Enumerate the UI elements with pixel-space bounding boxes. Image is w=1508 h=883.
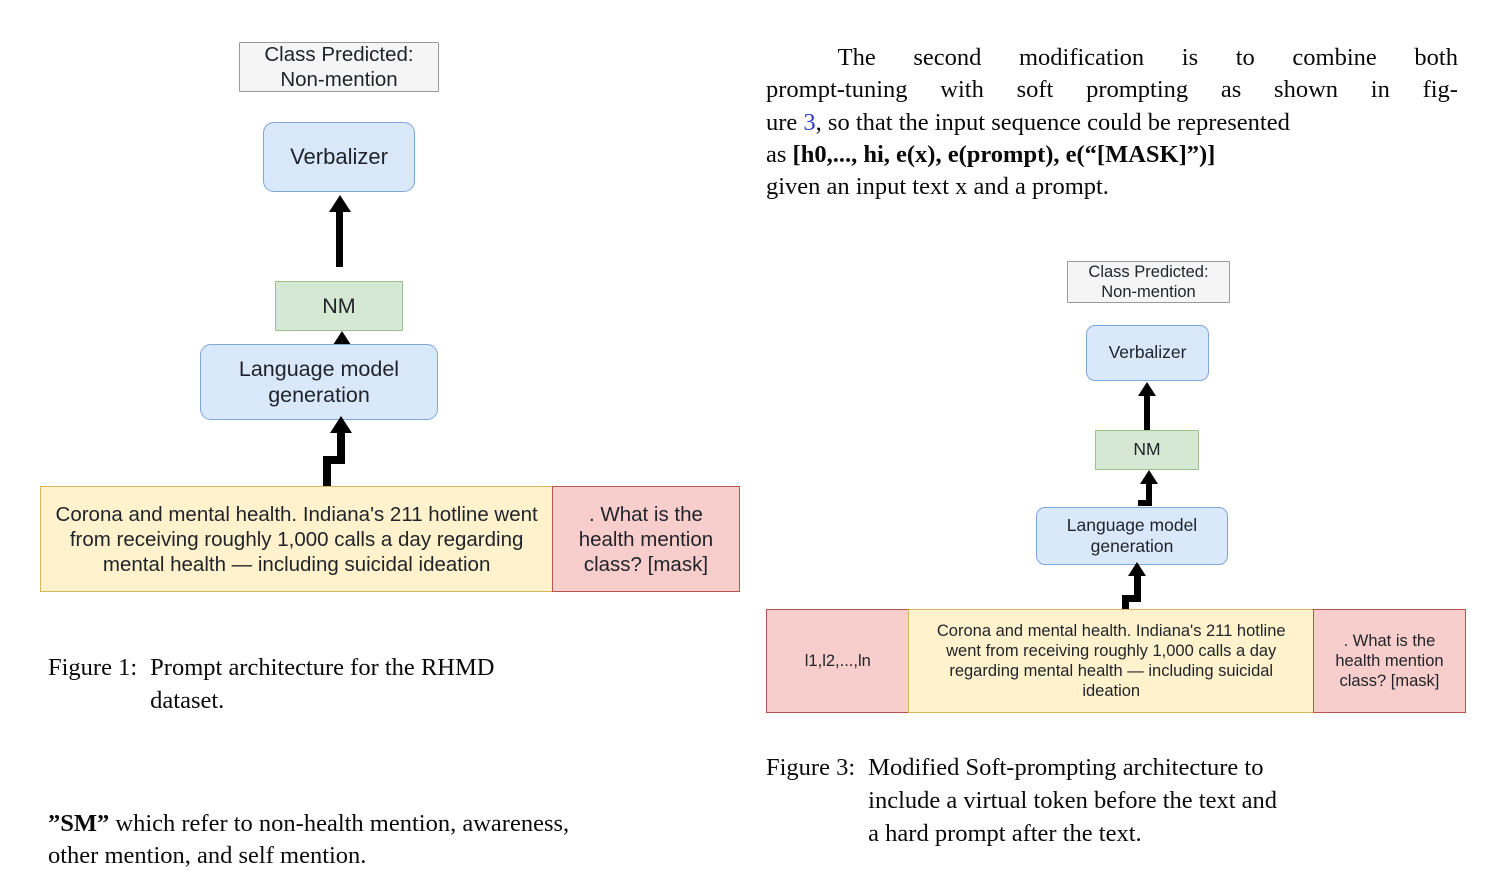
figure1-arrow-nm-to-verbalizer [324, 195, 356, 267]
figure3-caption-word-3: architecture [1123, 754, 1239, 781]
figure3-input-text: Corona and mental health. Indiana's 211 … [919, 621, 1303, 702]
left-body-line2: other mention, and self mention. [48, 840, 748, 872]
figure3-caption-line1: Modified Soft-prompting architecture to [868, 752, 1466, 785]
figure3-soft-tokens-label: l1,l2,...,ln [805, 651, 871, 671]
left-body-line1-rest: which refer to non-health mention, aware… [109, 810, 569, 837]
left-body-line1: ”SM” which refer to non-health mention, … [48, 808, 748, 840]
right-body-l2-w1: prompt-tuning [766, 74, 908, 106]
right-body-paragraph: The second modification is to combine bo… [766, 42, 1458, 204]
figure1-caption: Figure 1: Prompt architecture for the RH… [48, 652, 748, 718]
figure1-caption-word-4: the [385, 654, 415, 681]
figure3-soft-tokens-box: l1,l2,...,ln [766, 609, 910, 713]
figure1-language-model-box: Language model generation [200, 344, 438, 420]
figure1-class-predicted-box: Class Predicted: Non-mention [239, 42, 439, 92]
right-body-l1-w6: combine [1292, 42, 1376, 74]
figure3-hard-prompt-text: . What is the health mention class? [mas… [1322, 631, 1457, 691]
right-body-line2: prompt-tuning with soft prompting as sho… [766, 74, 1458, 106]
right-body-l2-w8: fig- [1423, 74, 1458, 106]
right-body-l2-w6: shown [1274, 74, 1338, 106]
figure1-verbalizer-box: Verbalizer [263, 122, 415, 192]
right-body-l3-rest: , so that the input sequence could be re… [816, 109, 1290, 136]
figure3-caption-body: Modified Soft-prompting architecture to … [868, 752, 1466, 850]
figure1-class-predicted-line1: Class Predicted: [264, 42, 413, 67]
figure3-caption-line3: a hard prompt after the text. [868, 818, 1466, 851]
right-body-line4: as [h0,..., hi, e(x), e(prompt), e(“[MAS… [766, 139, 1458, 171]
figure1-hard-prompt-text: . What is the health mention class? [mas… [563, 502, 729, 577]
figure1-verbalizer-label: Verbalizer [290, 144, 388, 171]
right-body-l2-w2: with [940, 74, 984, 106]
figure1-caption-word-5: RHMD [421, 654, 495, 681]
figure-3: Class Predicted: Non-mention Verbalizer … [766, 258, 1466, 718]
figure3-nm-box: NM [1095, 430, 1199, 470]
figure3-hard-prompt-box: . What is the health mention class? [mas… [1313, 609, 1466, 713]
figure3-language-model-box: Language model generation [1036, 507, 1228, 565]
right-body-l2-w4: prompting [1086, 74, 1188, 106]
figure1-input-text: Corona and mental health. Indiana's 211 … [53, 502, 540, 577]
figure3-caption-line2: include a virtual token before the text … [868, 785, 1466, 818]
figure1-caption-word-1: Prompt [150, 654, 222, 681]
figure3-caption-word-2: Soft-prompting [965, 754, 1116, 781]
right-body-l1-w7: both [1414, 42, 1458, 74]
figure-3-reference-link[interactable]: 3 [803, 109, 815, 136]
figure1-nm-label: NM [322, 293, 355, 319]
figure1-caption-line2: dataset. [150, 685, 748, 718]
figure3-caption-word-1: Modified [868, 754, 959, 781]
figure1-hard-prompt-box: . What is the health mention class? [mas… [552, 486, 740, 592]
right-body-l1-w3: modification [1019, 42, 1144, 74]
figure1-class-predicted-line2: Non-mention [280, 67, 397, 92]
figure1-arrow-input-to-lm [305, 416, 365, 494]
figure3-language-model-line1: Language model [1067, 515, 1197, 536]
figure1-language-model-line2: generation [268, 382, 370, 408]
figure3-caption: Figure 3: Modified Soft-prompting archit… [766, 752, 1466, 850]
figure1-nm-box: NM [275, 281, 403, 331]
figure1-caption-body: Prompt architecture for the RHMD dataset… [150, 652, 748, 718]
left-body-quoted-term: ”SM” [48, 810, 109, 837]
right-body-l1-w1: The [838, 42, 876, 74]
figure3-caption-word-4: to [1244, 754, 1263, 781]
input-sequence-formula: [h0,..., hi, e(x), e(prompt), e(“[MASK]”… [793, 141, 1216, 168]
paragraph-indent [766, 42, 800, 74]
figure1-caption-word-3: for [350, 654, 379, 681]
right-body-line1: The second modification is to combine bo… [766, 42, 1458, 74]
figure1-language-model-line1: Language model [239, 356, 399, 382]
figure3-class-predicted-box: Class Predicted: Non-mention [1067, 261, 1230, 303]
figure3-arrow-lm-to-nm [1135, 470, 1169, 506]
figure3-verbalizer-box: Verbalizer [1086, 325, 1209, 381]
figure1-input-row: Corona and mental health. Indiana's 211 … [40, 486, 740, 586]
figure3-class-predicted-line2: Non-mention [1101, 282, 1195, 302]
right-body-l1-w5: to [1236, 42, 1255, 74]
figure-1: Class Predicted: Non-mention Verbalizer … [40, 28, 750, 628]
figure3-caption-label: Figure 3: [766, 752, 868, 785]
right-body-l4-prefix: as [766, 141, 793, 168]
figure1-input-text-box: Corona and mental health. Indiana's 211 … [40, 486, 553, 592]
figure3-language-model-line2: generation [1091, 536, 1174, 557]
figure1-caption-line1: Prompt architecture for the RHMD [150, 652, 748, 685]
left-body-paragraph: ”SM” which refer to non-health mention, … [48, 808, 748, 873]
figure3-nm-label: NM [1133, 439, 1160, 460]
right-body-l1-w4: is [1182, 42, 1198, 74]
right-body-l2-w5: as [1221, 74, 1241, 106]
figure3-input-text-box: Corona and mental health. Indiana's 211 … [908, 609, 1314, 713]
right-body-l1-w2: second [913, 42, 981, 74]
right-body-line3: ure 3, so that the input sequence could … [766, 107, 1458, 139]
right-body-l3-prefix: ure [766, 109, 803, 136]
right-body-line5: given an input text x and a prompt. [766, 171, 1458, 203]
figure1-caption-label: Figure 1: [48, 652, 150, 685]
right-body-l2-w3: soft [1017, 74, 1054, 106]
figure3-input-row: l1,l2,...,ln Corona and mental health. I… [766, 609, 1466, 707]
figure3-class-predicted-line1: Class Predicted: [1088, 262, 1208, 282]
figure1-caption-word-2: architecture [228, 654, 344, 681]
right-body-l2-w7: in [1371, 74, 1390, 106]
figure3-verbalizer-label: Verbalizer [1109, 342, 1187, 363]
